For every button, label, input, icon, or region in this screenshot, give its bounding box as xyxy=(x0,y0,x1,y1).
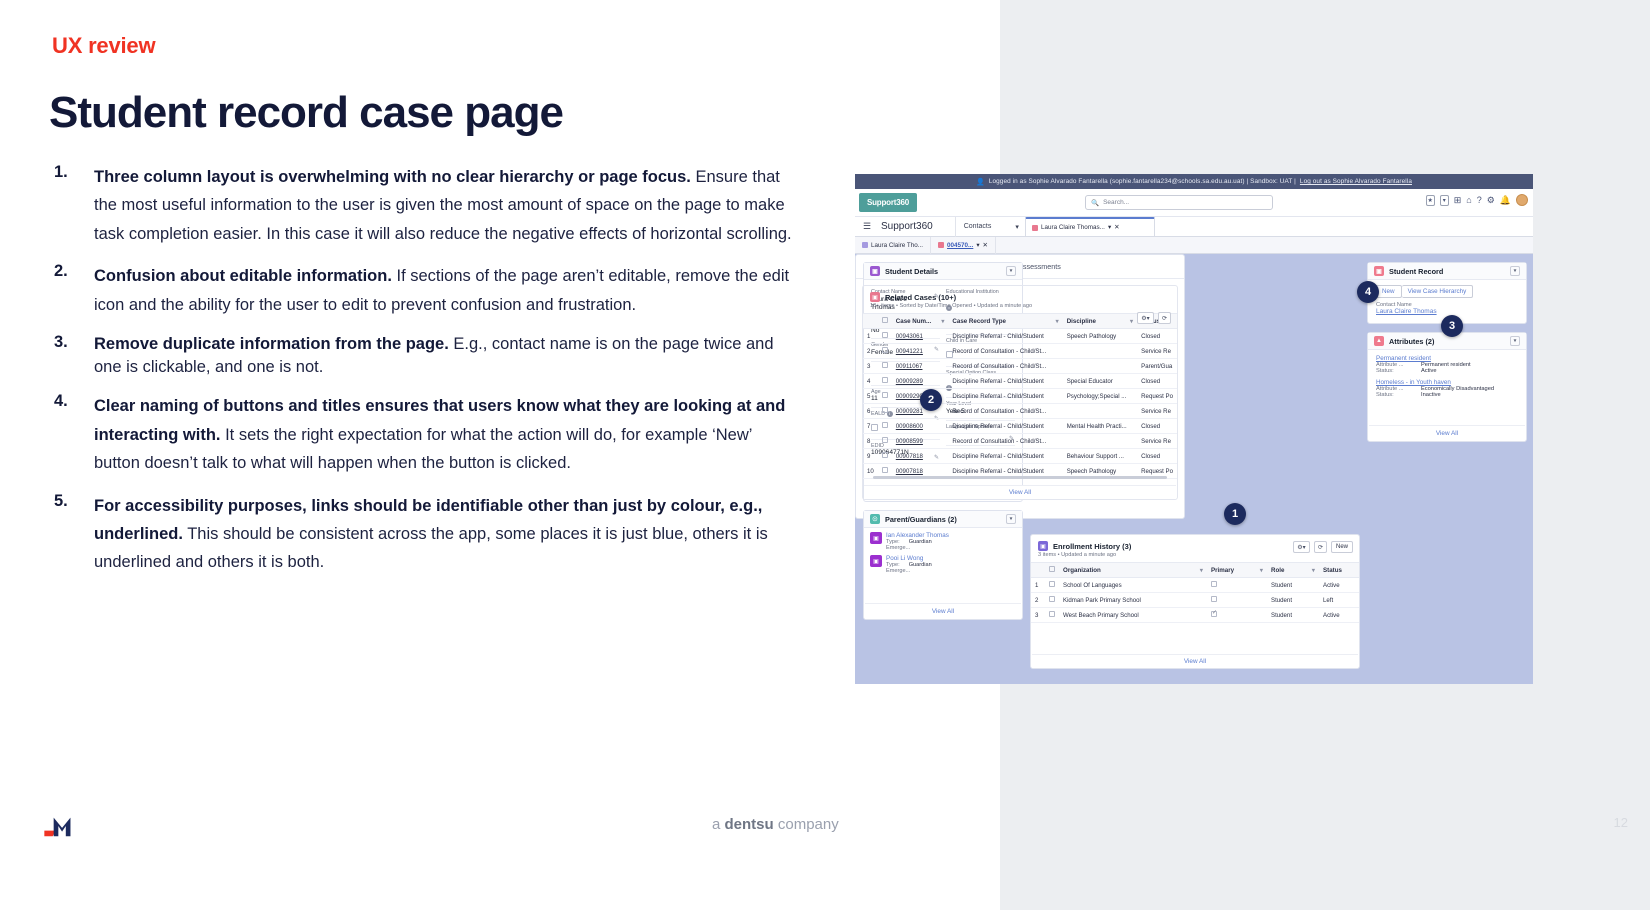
list-item: 5. For accessibility purposes, links sho… xyxy=(50,492,795,577)
table-row[interactable]: 500909290Discipline Referral - Child/Stu… xyxy=(863,389,1177,404)
user-icon: 👤 xyxy=(976,178,985,186)
parent-guardians-title: Parent/Guardians (2) xyxy=(885,515,957,524)
record-tab-strip: Laura Claire Tho... 004570... ▾ ✕ xyxy=(855,237,1533,254)
col-case-number[interactable]: Case Num...▾ xyxy=(892,314,949,329)
parent-guardians-header: ☉ Parent/Guardians (2) ▾ xyxy=(864,511,1022,528)
table-row[interactable]: 200941221Record of Consultation - Child/… xyxy=(863,344,1177,359)
table-row[interactable]: 2Kidman Park Primary SchoolStudentLeft xyxy=(1031,593,1359,608)
student-record-title: Student Record xyxy=(1389,267,1443,276)
global-header: Support360 🔍 Search... ★ ▾ ⊞ ⌂ ? ⚙ 🔔 xyxy=(855,189,1533,217)
sandbox-bar: 👤 Logged in as Sophie Alvarado Fantarell… xyxy=(855,174,1533,189)
list-item: 1. Three column layout is overwhelming w… xyxy=(50,163,795,248)
record-tab[interactable]: 004570... ▾ ✕ xyxy=(931,237,996,254)
case-icon xyxy=(938,242,944,248)
related-cases-subtitle: 10+ items • Sorted by Date/Time Opened •… xyxy=(863,303,1177,313)
callout-badge-2: 2 xyxy=(920,389,942,411)
app-nav: ☰ Support360 Contacts ▾ xyxy=(855,217,1533,237)
list-item-number: 2. xyxy=(54,262,68,281)
col-case-record-type[interactable]: Case Record Type▾ xyxy=(948,314,1062,329)
contact-icon: ▣ xyxy=(870,266,880,276)
case-number-link[interactable]: 00907818 xyxy=(892,449,949,464)
bell-icon[interactable]: 🔔 xyxy=(1500,195,1511,206)
list-item-bold: Confusion about editable information. xyxy=(94,267,392,285)
help-icon[interactable]: ? xyxy=(1477,195,1482,205)
record-tab-label: 004570... xyxy=(947,242,973,249)
search-placeholder: Search... xyxy=(1103,199,1129,206)
list-item: ▣ Ian Alexander Thomas Type:Guardian Eme… xyxy=(864,528,1022,551)
related-cases-table: Case Num...▾ Case Record Type▾ Disciplin… xyxy=(863,313,1177,479)
enrollment-history-card: ▣ Enrollment History (3) 3 items • Updat… xyxy=(1030,534,1360,669)
chevron-down-icon[interactable]: ▾ xyxy=(1006,266,1016,276)
list-item-text: This should be consistent across the app… xyxy=(94,525,768,571)
avatar[interactable] xyxy=(1516,194,1528,206)
view-all-link[interactable]: View All xyxy=(864,485,1176,499)
row-checkbox[interactable] xyxy=(882,407,888,413)
refresh-icon[interactable]: ⟳ xyxy=(1314,541,1327,553)
case-number-link[interactable]: 00908599 xyxy=(892,434,949,449)
row-checkbox[interactable] xyxy=(882,467,888,473)
list-item: Homeless - in Youth haven Attribute ...E… xyxy=(1368,374,1526,398)
table-row[interactable]: 1School Of LanguagesStudentActive xyxy=(1031,578,1359,593)
primary-checkbox[interactable] xyxy=(1211,596,1217,602)
table-header-row: Organization▾ Primary▾ Role▾ Status xyxy=(1031,563,1359,578)
gear-icon[interactable]: ⚙▾ xyxy=(1137,312,1154,324)
row-checkbox[interactable] xyxy=(882,452,888,458)
nav-tab-contacts-label: Contacts xyxy=(964,223,992,230)
enrollment-history-table: Organization▾ Primary▾ Role▾ Status 1Sch… xyxy=(1031,562,1359,623)
list-item: 2. Confusion about editable information.… xyxy=(50,262,795,319)
case-number-link[interactable]: 00941221 xyxy=(892,344,949,359)
record-tab[interactable]: Laura Claire Tho... xyxy=(855,237,931,254)
contact-icon xyxy=(862,242,868,248)
page-title: Student record case page xyxy=(49,88,563,138)
organization-link[interactable]: West Beach Primary School xyxy=(1059,608,1207,623)
col-role[interactable]: Role▾ xyxy=(1267,563,1319,578)
view-case-hierarchy-button[interactable]: View Case Hierarchy xyxy=(1402,285,1474,298)
organization-link[interactable]: School Of Languages xyxy=(1059,578,1207,593)
table-row[interactable]: 600909281Record of Consultation - Child/… xyxy=(863,404,1177,419)
chevron-down-icon[interactable]: ▾ xyxy=(1510,336,1520,346)
case-icon xyxy=(1032,225,1038,231)
gear-icon[interactable]: ⚙ xyxy=(1487,195,1495,206)
list-item-number: 1. xyxy=(54,163,68,182)
case-number-link[interactable]: 00911067 xyxy=(892,359,949,374)
table-row[interactable]: 300911067Record of Consultation - Child/… xyxy=(863,359,1177,374)
record-tab-label: Laura Claire Tho... xyxy=(871,242,923,249)
parent-name-link[interactable]: Ian Alexander Thomas xyxy=(886,532,949,539)
findings-list: 1. Three column layout is overwhelming w… xyxy=(50,163,795,591)
record-tab-label: Laura Claire Thomas... xyxy=(1041,224,1105,231)
case-number-link[interactable]: 00908600 xyxy=(892,419,949,434)
chevron-down-icon[interactable]: ▾ xyxy=(1015,223,1019,231)
list-item: 3. Remove duplicate information from the… xyxy=(50,333,795,379)
slide-eyebrow: UX review xyxy=(52,33,155,59)
col-organization[interactable]: Organization▾ xyxy=(1059,563,1207,578)
dentsu-footer: a dentsu company xyxy=(712,816,839,833)
search-icon: 🔍 xyxy=(1091,199,1099,207)
contact-name-link[interactable]: Laura Claire Thomas xyxy=(1376,308,1518,315)
attributes-card: ▲ Attributes (2) ▾ Permanent resident At… xyxy=(1367,332,1527,442)
enrollment-actions: ⚙▾ ⟳ New xyxy=(1293,541,1353,553)
attribute-icon: ▲ xyxy=(1374,336,1384,346)
list-item-bold: Remove duplicate information from the pa… xyxy=(94,335,449,353)
col-primary[interactable]: Primary▾ xyxy=(1207,563,1267,578)
student-record-contact: Contact Name Laura Claire Thomas xyxy=(1368,298,1526,315)
organization-link[interactable]: Kidman Park Primary School xyxy=(1059,593,1207,608)
callout-badge-3: 3 xyxy=(1441,315,1463,337)
row-checkbox[interactable] xyxy=(882,362,888,368)
new-button[interactable]: New xyxy=(1331,541,1353,553)
horizontal-scrollbar[interactable] xyxy=(873,476,1167,479)
view-all-link[interactable]: View All xyxy=(1369,425,1525,441)
app-name: Support360 xyxy=(881,221,933,232)
list-item: 4. Clear naming of buttons and titles en… xyxy=(50,392,795,477)
nav-tab-contacts[interactable]: Contacts ▾ xyxy=(955,217,1028,237)
chevron-down-icon[interactable]: ▾ xyxy=(1006,514,1016,524)
logout-link[interactable]: Log out as Sophie Alvarado Fantarella xyxy=(1300,178,1412,185)
row-checkbox[interactable] xyxy=(882,392,888,398)
add-icon[interactable]: ⊞ xyxy=(1454,195,1462,206)
parent-name-link[interactable]: Pooi Li Wong xyxy=(886,555,932,562)
app-screenshot: 👤 Logged in as Sophie Alvarado Fantarell… xyxy=(855,174,1533,684)
related-cases-header: ▣ Related Cases (10+) xyxy=(863,286,1177,303)
student-details-title: Student Details xyxy=(885,267,938,276)
gear-icon[interactable]: ⚙▾ xyxy=(1293,541,1310,553)
case-icon: ▣ xyxy=(870,292,880,302)
row-checkbox[interactable] xyxy=(882,332,888,338)
select-all-checkbox[interactable] xyxy=(1049,566,1055,572)
related-cases-card: ▣ Related Cases (10+) 10+ items • Sorted… xyxy=(862,285,1178,500)
home-icon[interactable]: ⌂ xyxy=(1466,195,1471,205)
primary-checkbox[interactable] xyxy=(1211,581,1217,587)
record-tab-active[interactable]: Laura Claire Thomas... ▾ ✕ xyxy=(1025,217,1155,237)
chevron-down-icon[interactable]: ▾ xyxy=(976,242,979,249)
enrollment-history-subtitle: 3 items • Updated a minute ago xyxy=(1031,552,1359,562)
chevron-down-icon[interactable]: ▾ xyxy=(1510,266,1520,276)
close-icon[interactable]: ✕ xyxy=(1114,224,1119,231)
table-row[interactable]: 100943061Discipline Referral - Child/Stu… xyxy=(863,329,1177,344)
brand-logo[interactable]: Support360 xyxy=(859,193,917,212)
contact-icon: ▣ xyxy=(870,555,882,567)
list-item-number: 3. xyxy=(54,333,68,352)
student-record-buttons: New View Case Hierarchy xyxy=(1368,280,1526,298)
enrollment-history-title: Enrollment History (3) xyxy=(1053,542,1131,551)
merkle-logo-icon xyxy=(44,812,82,840)
search-input[interactable]: 🔍 Search... xyxy=(1085,195,1273,210)
student-record-card: ▣ Student Record ▾ New View Case Hierarc… xyxy=(1367,262,1527,324)
table-row[interactable]: 3West Beach Primary SchoolStudentActive xyxy=(1031,608,1359,623)
related-cases-actions: ⚙▾ ⟳ xyxy=(1137,312,1171,324)
school-icon: ▣ xyxy=(1038,541,1048,551)
attribute-name-link[interactable]: Homeless - in Youth haven xyxy=(1376,379,1518,386)
header-icon-group: ★ ▾ ⊞ ⌂ ? ⚙ 🔔 xyxy=(1426,194,1528,206)
student-details-header: ▣ Student Details ▾ xyxy=(864,263,1022,280)
table-row[interactable]: 800908599Record of Consultation - Child/… xyxy=(863,434,1177,449)
row-checkbox[interactable] xyxy=(882,437,888,443)
slide-page-number: 12 xyxy=(1614,815,1628,830)
table-row[interactable]: 400909289Discipline Referral - Child/Stu… xyxy=(863,374,1177,389)
case-icon: ▣ xyxy=(1374,266,1384,276)
related-cases-title: Related Cases (10+) xyxy=(885,293,956,302)
case-number-link[interactable]: 00909289 xyxy=(892,374,949,389)
col-discipline[interactable]: Discipline▾ xyxy=(1063,314,1137,329)
sandbox-login-text: Logged in as Sophie Alvarado Fantarella … xyxy=(989,178,1296,185)
row-checkbox[interactable] xyxy=(1049,611,1055,617)
relationship-icon: ☉ xyxy=(870,514,880,524)
primary-checkbox[interactable] xyxy=(1211,611,1217,617)
attribute-name-link[interactable]: Permanent resident xyxy=(1376,355,1518,362)
select-all-checkbox[interactable] xyxy=(882,317,888,323)
parent-guardians-card: ☉ Parent/Guardians (2) ▾ ▣ Ian Alexander… xyxy=(863,510,1023,620)
app-launcher-icon[interactable]: ☰ xyxy=(863,221,873,232)
case-number-link[interactable]: 00943061 xyxy=(892,329,949,344)
close-icon[interactable]: ✕ xyxy=(982,242,987,249)
list-item: ▣ Pooi Li Wong Type:Guardian Emerge... xyxy=(864,551,1022,574)
cases-panel: Cases Case Notes Tasks Assessments ▣ Rel… xyxy=(855,254,1185,519)
row-checkbox[interactable] xyxy=(1049,596,1055,602)
student-record-header: ▣ Student Record ▾ xyxy=(1368,263,1526,280)
table-row[interactable]: 900907818Discipline Referral - Child/Stu… xyxy=(863,449,1177,464)
favorites-icon[interactable]: ★ xyxy=(1426,195,1435,206)
col-status[interactable]: Status xyxy=(1319,563,1359,578)
attributes-title: Attributes (2) xyxy=(1389,337,1434,346)
row-checkbox[interactable] xyxy=(1049,581,1055,587)
list-item-bold: Three column layout is overwhelming with… xyxy=(94,168,691,186)
favorites-dropdown-icon[interactable]: ▾ xyxy=(1440,195,1449,206)
refresh-icon[interactable]: ⟳ xyxy=(1158,312,1171,324)
view-all-link[interactable]: View All xyxy=(1032,654,1358,668)
list-item-number: 4. xyxy=(54,392,68,411)
row-checkbox[interactable] xyxy=(882,422,888,428)
table-header-row: Case Num...▾ Case Record Type▾ Disciplin… xyxy=(863,314,1177,329)
table-row[interactable]: 700908600Discipline Referral - Child/Stu… xyxy=(863,419,1177,434)
list-item: Permanent resident Attribute ...Permanen… xyxy=(1368,350,1526,374)
contact-icon: ▣ xyxy=(870,532,882,544)
callout-badge-1: 1 xyxy=(1224,503,1246,525)
view-all-link[interactable]: View All xyxy=(865,603,1021,619)
row-checkbox[interactable] xyxy=(882,347,888,353)
list-item-number: 5. xyxy=(54,492,68,511)
row-checkbox[interactable] xyxy=(882,377,888,383)
callout-badge-4: 4 xyxy=(1357,281,1379,303)
record-canvas: ▣ Student Details ▾ Contact Name Laura C… xyxy=(855,254,1533,684)
chevron-down-icon[interactable]: ▾ xyxy=(1108,224,1111,231)
